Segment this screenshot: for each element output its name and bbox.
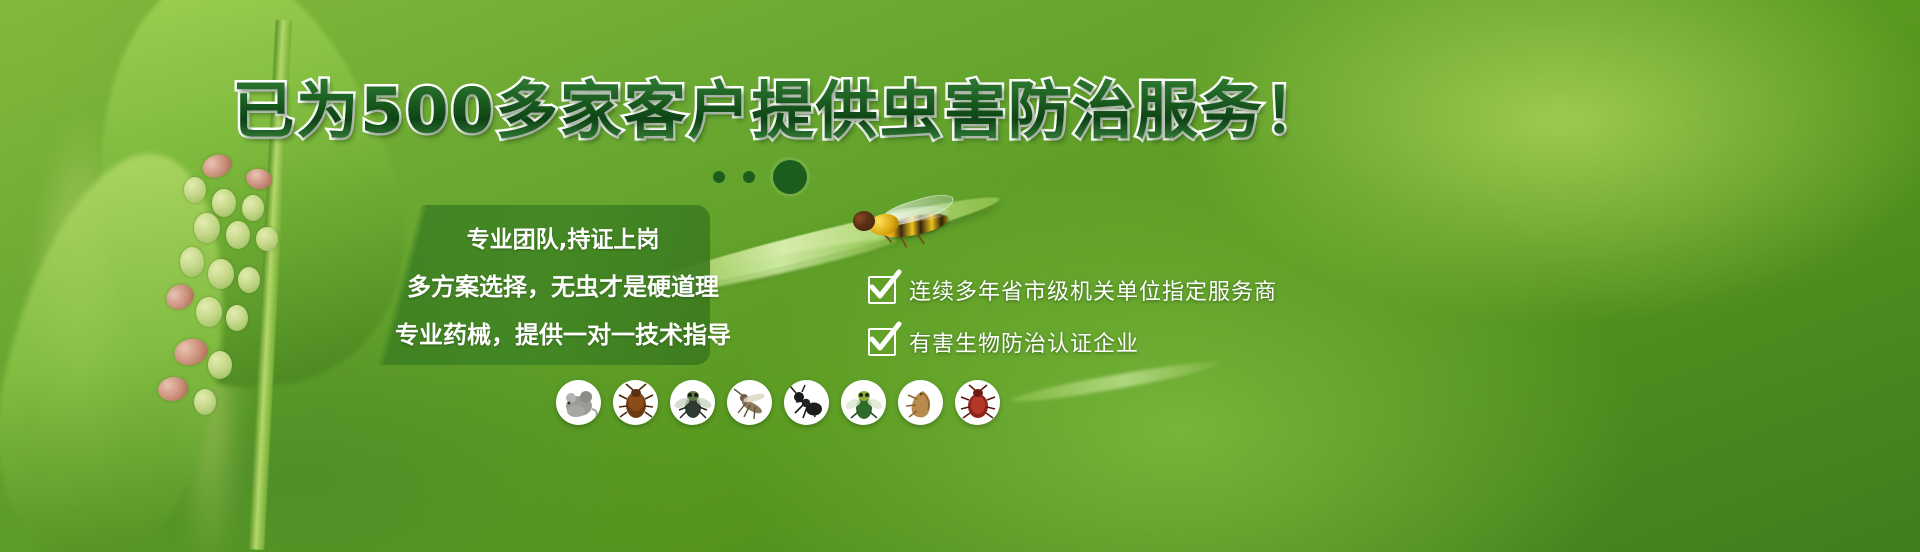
green-fly-icon[interactable] — [841, 380, 886, 425]
list-item: 连续多年省市级机关单位指定服务商 — [868, 274, 1277, 306]
credential-text: 连续多年省市级机关单位指定服务商 — [909, 274, 1277, 306]
mosquito-icon[interactable] — [727, 380, 772, 425]
credentials-list: 连续多年省市级机关单位指定服务商 有害生物防治认证企业 — [868, 274, 1277, 358]
flea-icon[interactable] — [898, 380, 943, 425]
fly-icon[interactable] — [670, 380, 715, 425]
promo-banner: 已为500多家客户提供虫害防治服务！ 已为500多家客户提供虫害防治服务！ 专业… — [0, 0, 1920, 552]
credential-text: 有害生物防治认证企业 — [909, 326, 1139, 358]
decorative-dots — [713, 160, 807, 194]
bedbug-icon[interactable] — [955, 380, 1000, 425]
selling-point-line-3: 专业药械，提供一对一技术指导 — [395, 315, 731, 350]
hoverfly-photo-element — [845, 198, 957, 254]
large-dot-icon — [773, 160, 807, 194]
pest-icon-row — [556, 380, 1000, 425]
page-title: 已为500多家客户提供虫害防治服务！ — [0, 76, 1560, 146]
selling-point-line-1: 专业团队,持证上岗 — [467, 220, 660, 254]
selling-points-panel: 专业团队,持证上岗 多方案选择，无虫才是硬道理 专业药械，提供一对一技术指导 — [342, 205, 710, 365]
small-dot-icon — [743, 171, 755, 183]
ant-icon[interactable] — [784, 380, 829, 425]
checkbox-checked-icon — [868, 276, 896, 304]
small-dot-icon — [713, 171, 725, 183]
checkbox-checked-icon — [868, 328, 896, 356]
list-item: 有害生物防治认证企业 — [868, 326, 1277, 358]
cockroach-icon[interactable] — [613, 380, 658, 425]
selling-point-line-2: 多方案选择，无虫才是硬道理 — [407, 267, 719, 302]
mouse-icon[interactable] — [556, 380, 601, 425]
